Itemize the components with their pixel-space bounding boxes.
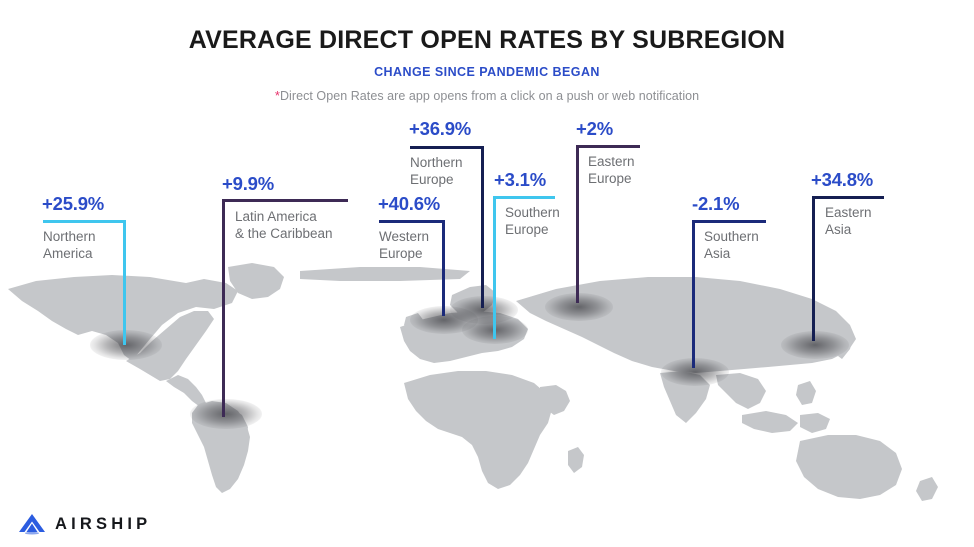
landmasses [8, 263, 938, 501]
bracket-h-western-europe [379, 220, 445, 223]
region-latin-america: Latin America & the Caribbean [235, 208, 355, 242]
bracket-v-eastern-asia [812, 196, 815, 341]
region-eastern-europe: Eastern Europe [588, 153, 660, 187]
infographic-canvas: AVERAGE DIRECT OPEN RATES BY SUBREGION C… [0, 0, 974, 547]
pct-northern-europe: +36.9% [409, 118, 471, 140]
bracket-v-southern-asia [692, 220, 695, 368]
brand-logo[interactable]: AIRSHIP [18, 513, 151, 535]
brand-name: AIRSHIP [55, 515, 151, 534]
pct-latin-america: +9.9% [222, 173, 274, 195]
pct-southern-asia: -2.1% [692, 193, 739, 215]
bracket-v-southern-europe [493, 196, 496, 339]
bracket-h-latin-america [222, 199, 348, 202]
bracket-v-latin-america [222, 199, 225, 417]
bracket-h-southern-asia [692, 220, 766, 223]
bracket-h-eastern-asia [812, 196, 884, 199]
region-northern-europe: Northern Europe [410, 154, 482, 188]
pct-southern-europe: +3.1% [494, 169, 546, 191]
pct-eastern-europe: +2% [576, 118, 613, 140]
pct-western-europe: +40.6% [378, 193, 440, 215]
bracket-h-northern-europe [410, 146, 484, 149]
header: AVERAGE DIRECT OPEN RATES BY SUBREGION C… [0, 0, 974, 103]
region-southern-europe: Southern Europe [505, 204, 577, 238]
region-western-europe: Western Europe [379, 228, 449, 262]
pct-eastern-asia: +34.8% [811, 169, 873, 191]
airship-triangle-logo-icon [18, 513, 46, 535]
world-map-svg [0, 255, 974, 515]
page-subtitle: CHANGE SINCE PANDEMIC BEGAN [0, 65, 974, 79]
footnote: *Direct Open Rates are app opens from a … [0, 88, 974, 103]
bracket-h-northern-america [43, 220, 126, 223]
bracket-h-eastern-europe [576, 145, 640, 148]
bracket-h-southern-europe [493, 196, 555, 199]
page-title: AVERAGE DIRECT OPEN RATES BY SUBREGION [0, 26, 974, 55]
bracket-v-northern-america [123, 220, 126, 345]
region-eastern-asia: Eastern Asia [825, 204, 897, 238]
bracket-v-eastern-europe [576, 145, 579, 303]
region-northern-america: Northern America [43, 228, 121, 262]
region-southern-asia: Southern Asia [704, 228, 780, 262]
footnote-text: Direct Open Rates are app opens from a c… [280, 89, 699, 103]
world-map [0, 255, 974, 515]
pct-northern-america: +25.9% [42, 193, 104, 215]
